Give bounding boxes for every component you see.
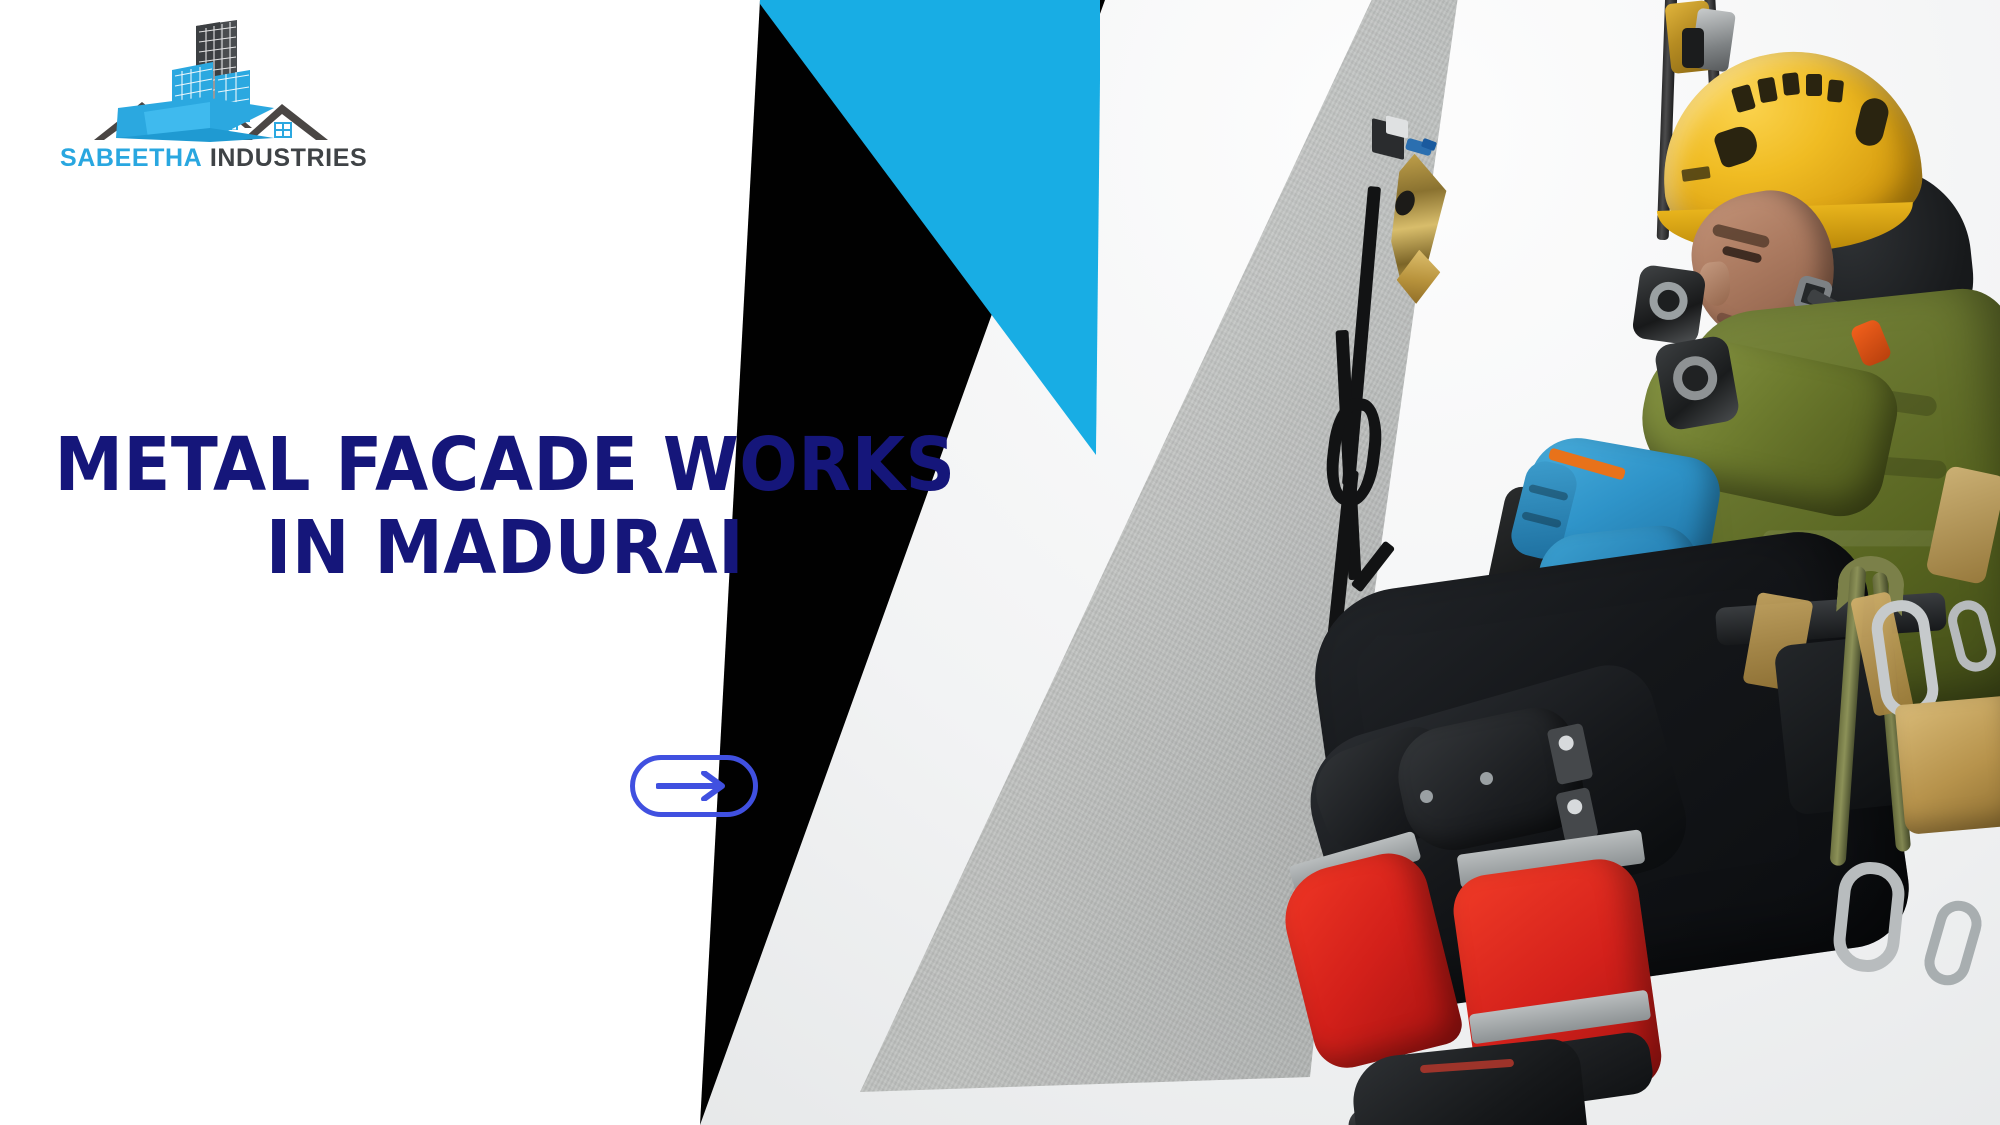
rope-descender-upper [1631, 264, 1707, 346]
descender-pulley [1670, 353, 1721, 404]
descender-pulley [1647, 279, 1690, 322]
brand-logo[interactable]: SABEETHA INDUSTRIES [60, 18, 350, 188]
rope-device-top-dark [1682, 28, 1704, 68]
headline-line-2: IN MADURAI [266, 505, 744, 591]
helmet-vent [1806, 74, 1822, 96]
arrow-right-icon [656, 771, 732, 801]
hero-banner: SABEETHA INDUSTRIES METAL FACADE WORKS I… [0, 0, 2000, 1125]
brand-name: SABEETHA INDUSTRIES [60, 144, 350, 173]
cta-arrow-button[interactable] [630, 755, 758, 817]
brand-name-secondary: INDUSTRIES [210, 144, 367, 172]
page-title: METAL FACADE WORKS IN MADURAI [35, 424, 974, 590]
tool-pouch [1895, 695, 2000, 835]
headline-line-1: METAL FACADE WORKS [54, 422, 955, 508]
rope-descender [1653, 334, 1741, 432]
helmet-vent [1827, 79, 1844, 102]
trouser-rivet [1420, 790, 1433, 803]
logo-mark [60, 18, 350, 148]
helmet-vent [1782, 72, 1800, 96]
brand-name-primary: SABEETHA [60, 144, 202, 172]
trouser-rivet [1480, 772, 1493, 785]
paper-boat-icon [116, 96, 274, 142]
